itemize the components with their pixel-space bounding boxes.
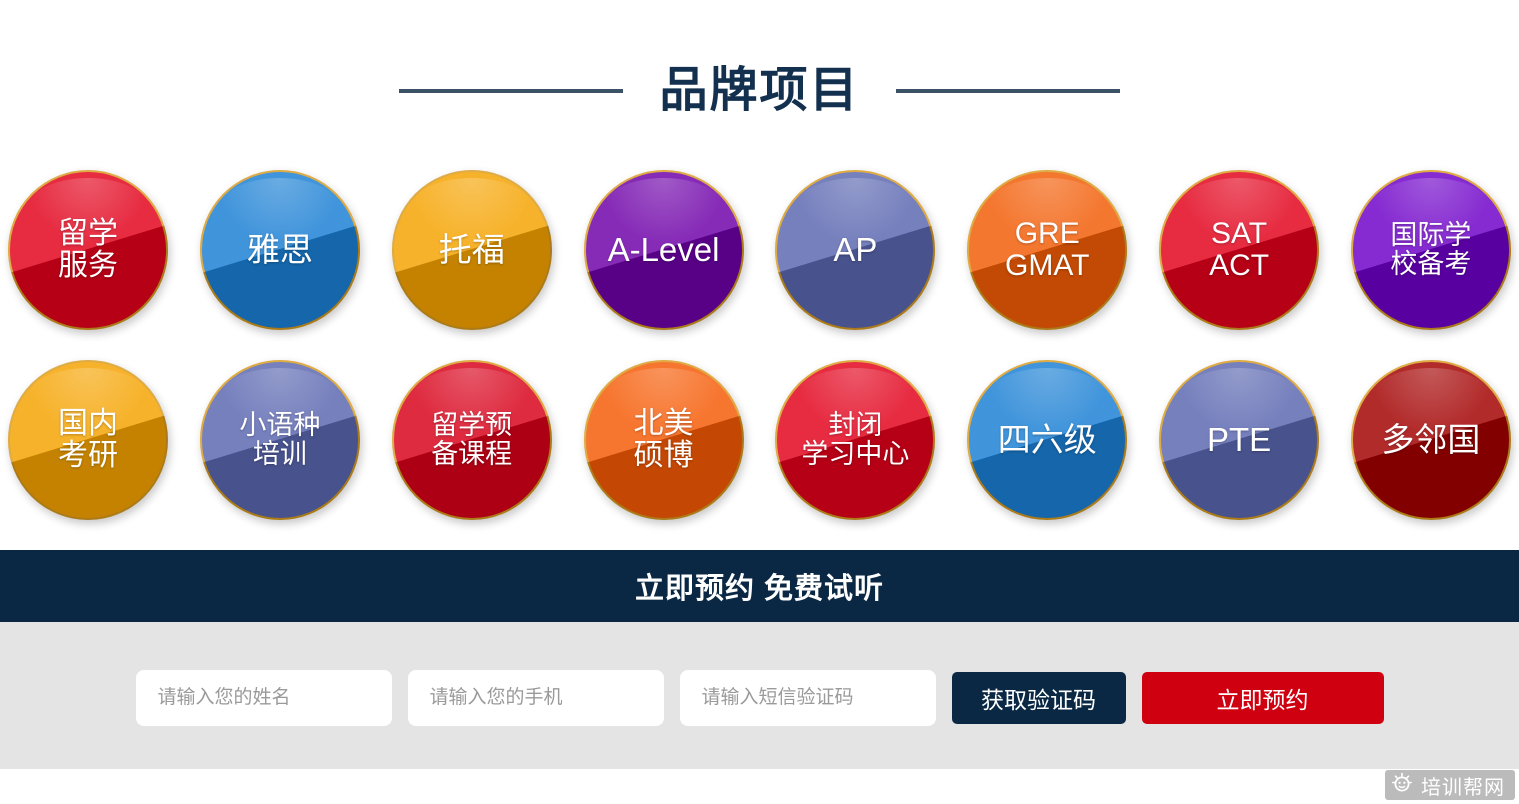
sms-code-input[interactable] (680, 670, 936, 726)
program-bubble-disc[interactable]: 国内 考研 (8, 360, 168, 520)
program-bubble-sat-act[interactable]: SAT ACT (1159, 170, 1319, 330)
program-bubble-disc[interactable]: AP (775, 170, 935, 330)
cta-banner-title: 立即预约 免费试听 (635, 565, 884, 607)
program-bubble-label: 多邻国 (1379, 422, 1482, 458)
name-input[interactable] (136, 670, 392, 726)
program-bubble-disc[interactable]: 封闭 学习中心 (775, 360, 935, 520)
program-bubble-disc[interactable]: A-Level (584, 170, 744, 330)
program-bubble-pte[interactable]: PTE (1159, 360, 1319, 520)
program-bubble-disc[interactable]: 北美 硕博 (584, 360, 744, 520)
page-title: 品牌项目 (659, 67, 859, 115)
program-bubble-ap[interactable]: AP (775, 170, 935, 330)
program-bubble-多邻国[interactable]: 多邻国 (1351, 360, 1511, 520)
program-bubble-label: 小语种 培训 (237, 411, 322, 469)
program-bubble-disc[interactable]: GRE GMAT (967, 170, 1127, 330)
program-bubble-disc[interactable]: 国际学 校备考 (1351, 170, 1511, 330)
program-bubble-disc[interactable]: 四六级 (967, 360, 1127, 520)
phone-input[interactable] (408, 670, 664, 726)
program-bubble-label: 留学 服务 (56, 218, 120, 283)
program-row-2: 国内 考研小语种 培训留学预 备课程北美 硕博封闭 学习中心四六级PTE多邻国 (8, 360, 1511, 520)
section-header: 品牌项目 (0, 0, 1519, 170)
program-bubble-label: 留学预 备课程 (429, 411, 514, 469)
program-bubble-disc[interactable]: 留学 服务 (8, 170, 168, 330)
appointment-form: 获取验证码 立即预约 (0, 622, 1519, 769)
get-verification-code-button[interactable]: 获取验证码 (952, 672, 1126, 724)
program-bubble-留学预-备课程[interactable]: 留学预 备课程 (392, 360, 552, 520)
cta-banner: 立即预约 免费试听 (0, 550, 1519, 622)
program-bubble-label: PTE (1205, 422, 1273, 458)
program-bubble-label: 托福 (437, 232, 507, 268)
program-bubble-label: 北美 硕博 (632, 408, 696, 473)
program-bubble-label: GRE GMAT (1003, 218, 1091, 283)
program-bubble-label: A-Level (606, 232, 722, 268)
program-bubble-label: 雅思 (245, 232, 315, 268)
program-bubble-封闭-学习中心[interactable]: 封闭 学习中心 (775, 360, 935, 520)
site-watermark: 培训帮网 (1385, 770, 1515, 800)
sun-face-icon (1391, 772, 1413, 799)
submit-appointment-button[interactable]: 立即预约 (1142, 672, 1384, 724)
program-bubble-disc[interactable]: 雅思 (200, 170, 360, 330)
title-rule-right (896, 89, 1120, 93)
program-bubble-a-level[interactable]: A-Level (584, 170, 744, 330)
program-bubble-小语种-培训[interactable]: 小语种 培训 (200, 360, 360, 520)
program-bubble-label: 国内 考研 (56, 408, 120, 473)
program-bubble-gre-gmat[interactable]: GRE GMAT (967, 170, 1127, 330)
program-bubble-留学-服务[interactable]: 留学 服务 (8, 170, 168, 330)
program-bubble-label: AP (831, 232, 879, 268)
program-bubble-国际学-校备考[interactable]: 国际学 校备考 (1351, 170, 1511, 330)
program-bubble-label: 四六级 (996, 422, 1099, 458)
program-grid: 留学 服务雅思托福A-LevelAPGRE GMATSAT ACT国际学 校备考… (0, 170, 1519, 520)
program-bubble-托福[interactable]: 托福 (392, 170, 552, 330)
program-bubble-disc[interactable]: 留学预 备课程 (392, 360, 552, 520)
program-bubble-disc[interactable]: SAT ACT (1159, 170, 1319, 330)
program-bubble-四六级[interactable]: 四六级 (967, 360, 1127, 520)
program-bubble-国内-考研[interactable]: 国内 考研 (8, 360, 168, 520)
program-bubble-label: 国际学 校备考 (1388, 221, 1473, 279)
program-bubble-disc[interactable]: 小语种 培训 (200, 360, 360, 520)
program-bubble-disc[interactable]: PTE (1159, 360, 1319, 520)
program-bubble-disc[interactable]: 托福 (392, 170, 552, 330)
program-bubble-雅思[interactable]: 雅思 (200, 170, 360, 330)
program-row-1: 留学 服务雅思托福A-LevelAPGRE GMATSAT ACT国际学 校备考 (8, 170, 1511, 330)
program-bubble-label: 封闭 学习中心 (799, 411, 911, 469)
program-bubble-disc[interactable]: 多邻国 (1351, 360, 1511, 520)
program-bubble-label: SAT ACT (1207, 218, 1271, 283)
title-rule-left (399, 89, 623, 93)
program-bubble-北美-硕博[interactable]: 北美 硕博 (584, 360, 744, 520)
watermark-label: 培训帮网 (1421, 771, 1505, 800)
